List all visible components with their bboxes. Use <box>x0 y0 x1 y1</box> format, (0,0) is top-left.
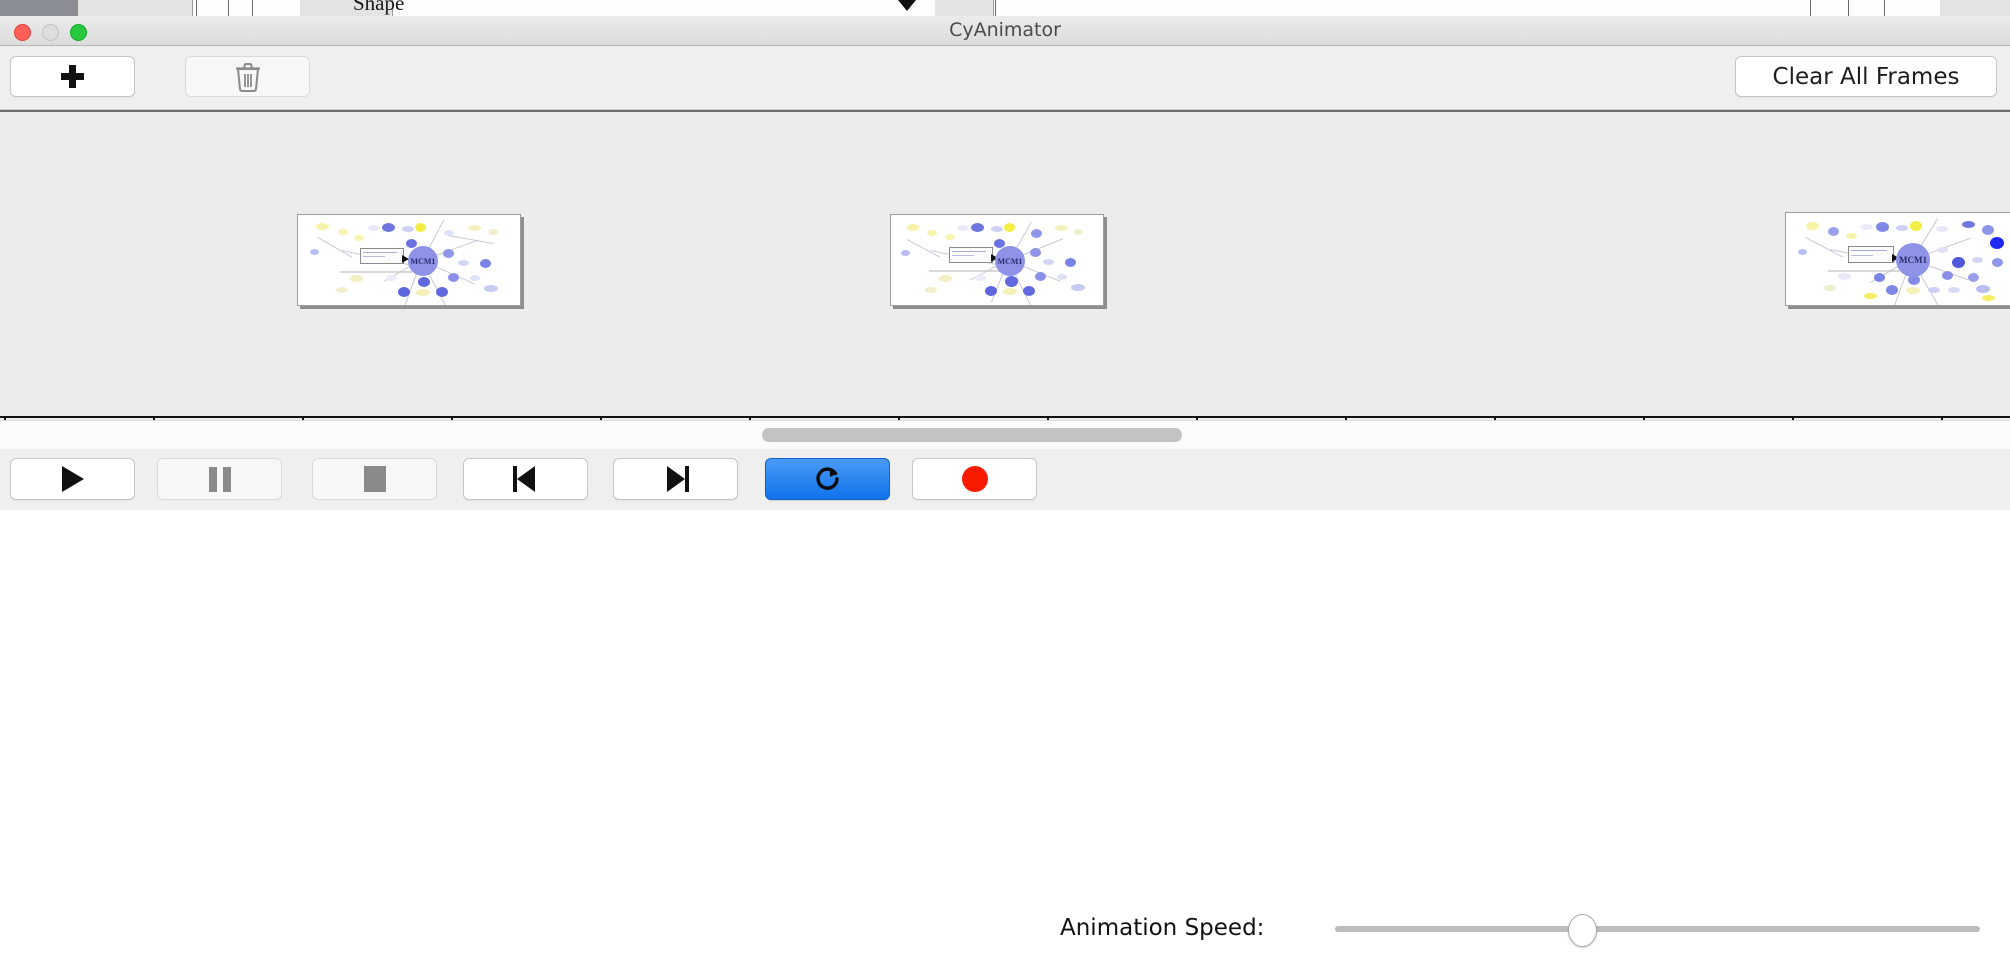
frame-toolbar: Clear All Frames <box>0 46 2010 110</box>
stop-icon <box>364 466 386 492</box>
background-window-label: Shape <box>353 0 404 16</box>
close-icon[interactable] <box>14 24 31 41</box>
timeline-frame-thumbnail[interactable]: MCM1 <box>297 214 521 306</box>
skip-forward-icon <box>663 466 689 492</box>
play-icon <box>62 466 84 492</box>
hub-node: MCM1 <box>408 246 438 276</box>
slider-track[interactable] <box>1335 926 1980 932</box>
slider-knob[interactable] <box>1568 914 1597 947</box>
network-thumbnail: MCM1 <box>298 215 520 305</box>
animation-speed-slider[interactable] <box>1335 898 1980 959</box>
network-thumbnail: MCM1 <box>891 215 1103 305</box>
pause-button[interactable] <box>157 458 282 500</box>
minimize-icon[interactable] <box>42 24 59 41</box>
delete-frame-button[interactable] <box>185 56 310 97</box>
plus-icon <box>60 64 85 89</box>
loop-button[interactable] <box>765 458 890 500</box>
skip-forward-button[interactable] <box>613 458 738 500</box>
network-thumbnail: MCM1 <box>1786 213 2010 305</box>
timeline-scrollbar[interactable] <box>0 420 2010 450</box>
window-traffic-lights <box>14 24 87 41</box>
stop-button[interactable] <box>312 458 437 500</box>
timeline-panel[interactable]: MCM1 <box>0 110 2010 420</box>
hub-node: MCM1 <box>1896 243 1930 277</box>
loop-icon <box>813 464 843 494</box>
record-icon <box>962 466 988 492</box>
timeline-frame-thumbnail[interactable]: MCM1 <box>1785 212 2010 306</box>
page-title: CyAnimator <box>0 16 2010 45</box>
timeline-frame-thumbnail[interactable]: MCM1 <box>890 214 1104 306</box>
add-frame-button[interactable] <box>10 56 135 97</box>
clear-all-frames-button[interactable]: Clear All Frames <box>1735 56 1997 97</box>
timeline-scrollbar-thumb[interactable] <box>762 428 1182 442</box>
play-button[interactable] <box>10 458 135 500</box>
skip-back-icon <box>513 466 539 492</box>
window-title-bar: CyAnimator <box>0 16 2010 46</box>
hub-node: MCM1 <box>995 246 1025 276</box>
zoom-icon[interactable] <box>70 24 87 41</box>
playback-control-bar: Animation Speed: <box>0 449 2010 510</box>
pause-icon <box>209 467 231 492</box>
background-window-strip: Shape <box>0 0 2010 16</box>
trash-icon <box>235 62 261 92</box>
record-button[interactable] <box>912 458 1037 500</box>
animation-speed-label: Animation Speed: <box>1060 898 1264 959</box>
skip-back-button[interactable] <box>463 458 588 500</box>
